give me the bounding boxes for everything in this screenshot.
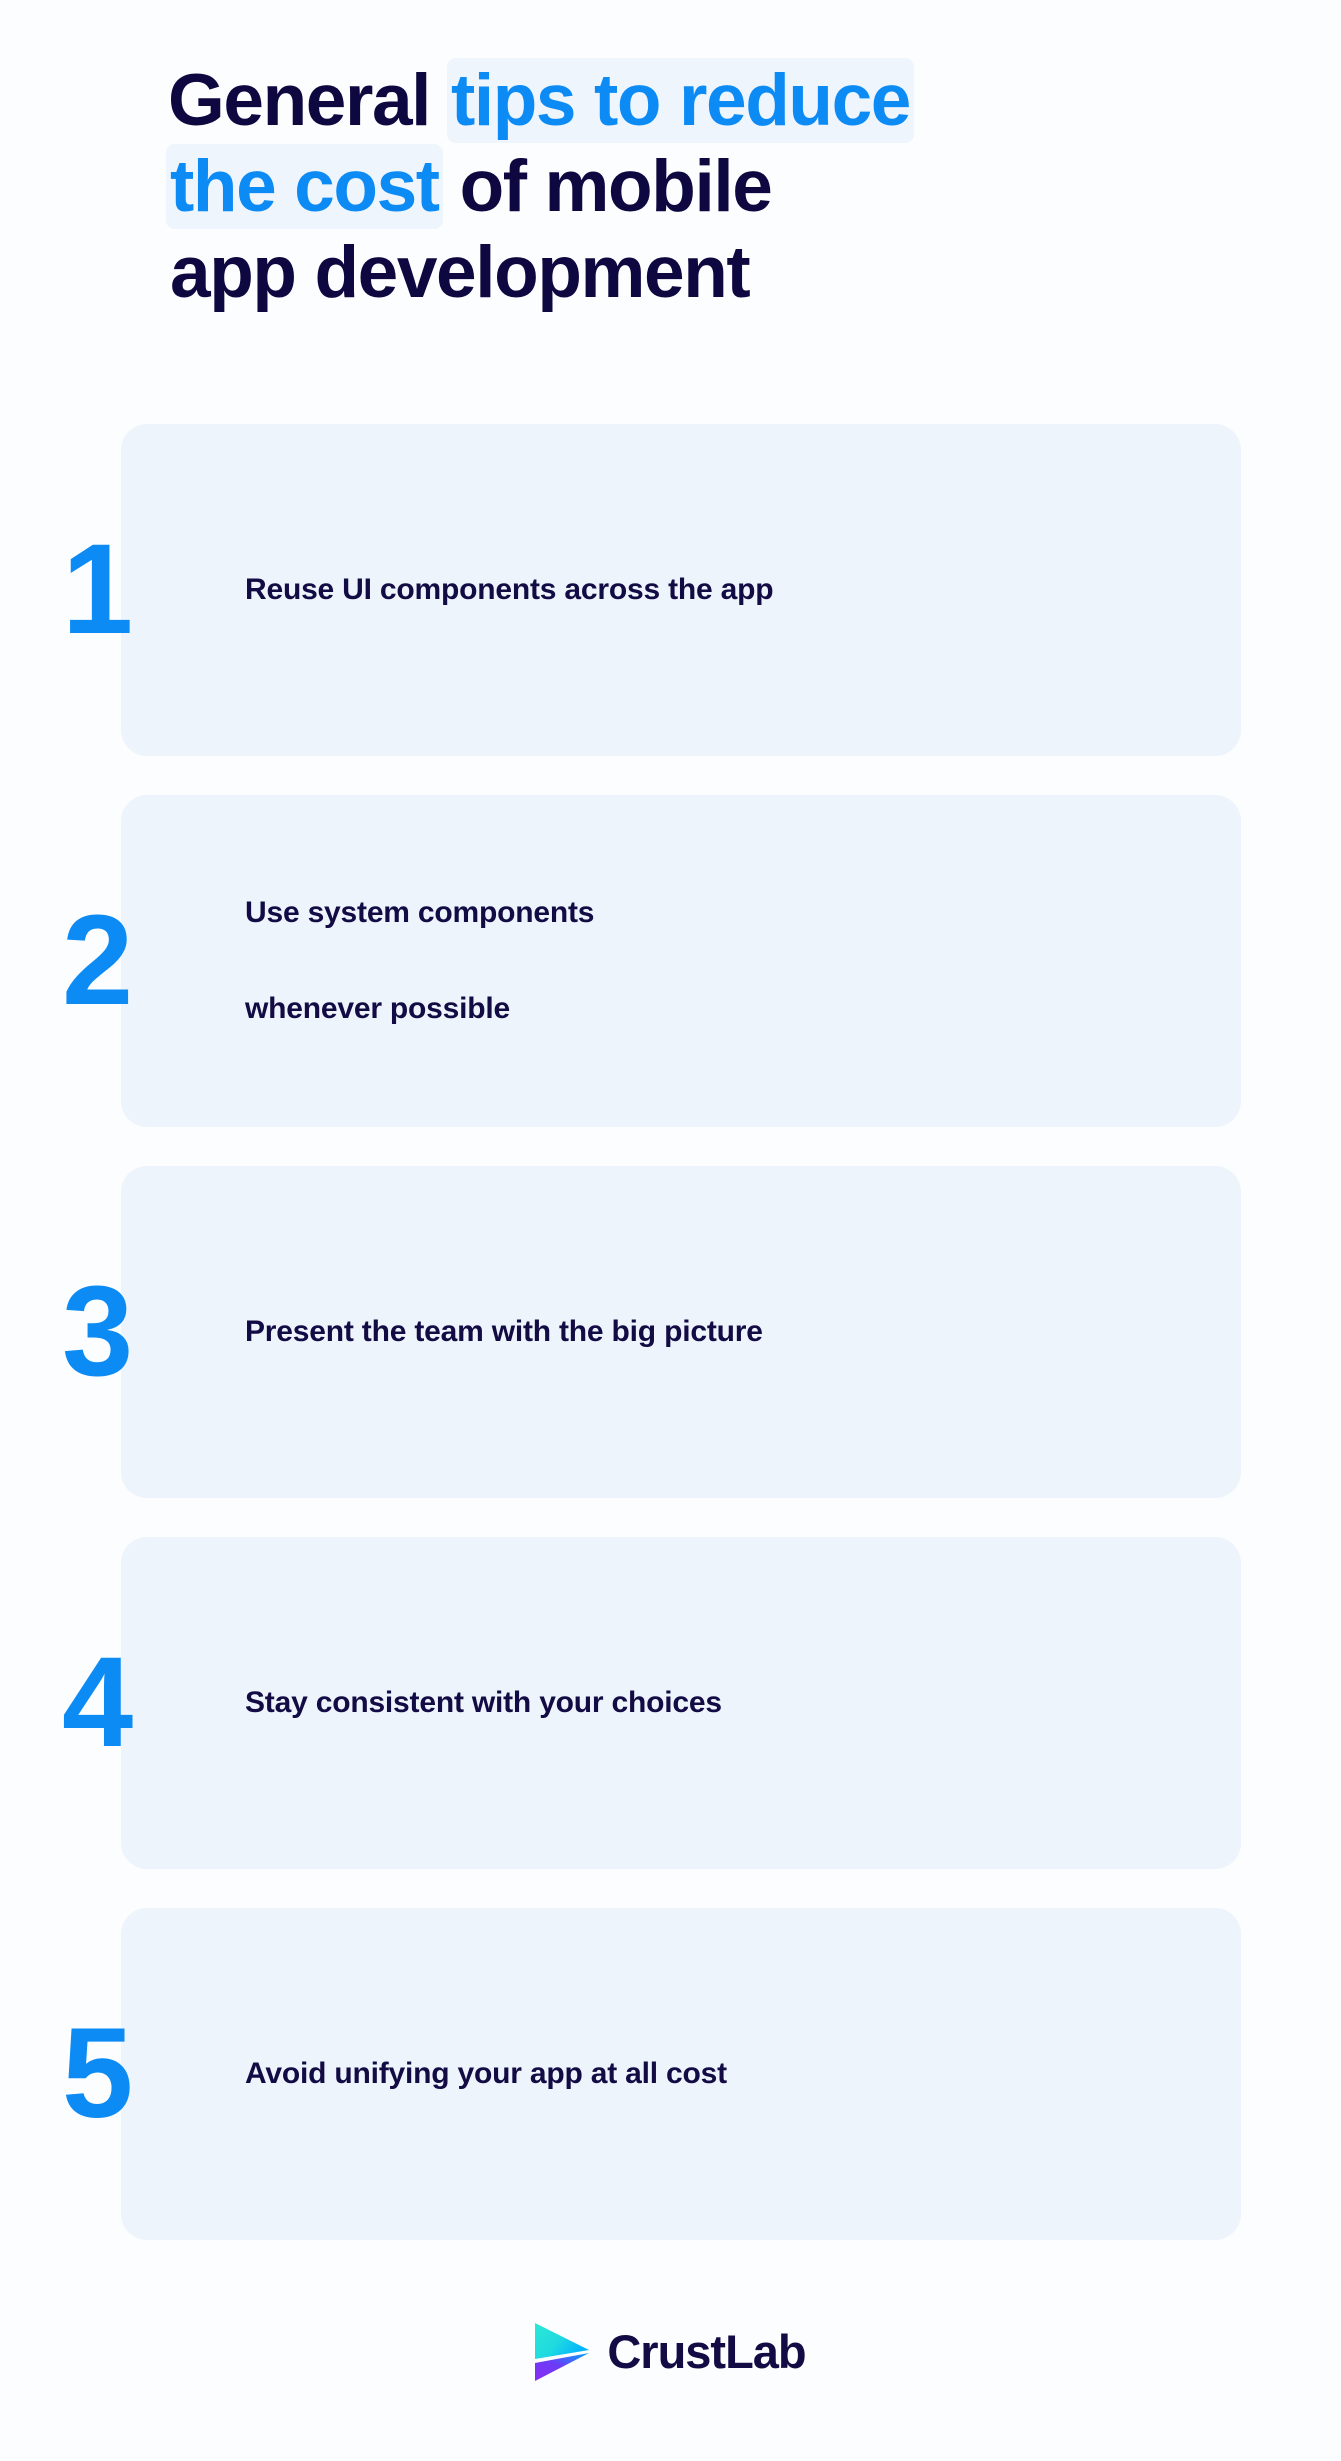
tip-number: 1 (62, 526, 172, 654)
tip-text-line: Stay consistent with your choices (245, 1655, 1105, 1751)
tip-number: 2 (62, 897, 172, 1025)
tip-number: 3 (62, 1268, 172, 1396)
tips-list: 1 Reuse UI components across the app 2 U… (0, 424, 1341, 2240)
title-line-2: the cost of mobile (168, 144, 1178, 230)
list-item: 1 Reuse UI components across the app (0, 424, 1341, 756)
brand-name: CrustLab (607, 2326, 805, 2378)
tip-text: Reuse UI components across the app (245, 542, 1105, 638)
tip-text-line: Use system components (245, 865, 1105, 961)
title-line-3: app development (168, 230, 1178, 316)
crustlab-logo-icon (535, 2323, 589, 2381)
tip-text: Avoid unifying your app at all cost (245, 2026, 1105, 2122)
tip-text: Stay consistent with your choices (245, 1655, 1105, 1751)
title-highlight-1: tips to reduce (447, 58, 914, 143)
title-plain-2: of mobile (441, 146, 772, 227)
tip-text: Present the team with the big picture (245, 1284, 1105, 1380)
title-plain-1: General (168, 60, 449, 141)
list-item: 4 Stay consistent with your choices (0, 1537, 1341, 1869)
title-plain-3: app development (170, 232, 749, 313)
title-highlight-2: the cost (166, 144, 443, 229)
list-item: 3 Present the team with the big picture (0, 1166, 1341, 1498)
page-title: General tips to reduce the cost of mobil… (168, 58, 1178, 316)
list-item: 5 Avoid unifying your app at all cost (0, 1908, 1341, 2240)
list-item: 2 Use system components whenever possibl… (0, 795, 1341, 1127)
tip-number: 4 (62, 1639, 172, 1767)
tip-text-line: Present the team with the big picture (245, 1284, 1105, 1380)
tip-text-line: Reuse UI components across the app (245, 542, 1105, 638)
tip-number: 5 (62, 2010, 172, 2138)
title-line-1: General tips to reduce (168, 58, 1178, 144)
tip-text: Use system components whenever possible (245, 865, 1105, 1057)
infographic-page: General tips to reduce the cost of mobil… (0, 0, 1341, 2461)
tip-text-line: whenever possible (245, 961, 1105, 1057)
footer-brand: CrustLab (0, 2323, 1341, 2381)
tip-text-line: Avoid unifying your app at all cost (245, 2026, 1105, 2122)
